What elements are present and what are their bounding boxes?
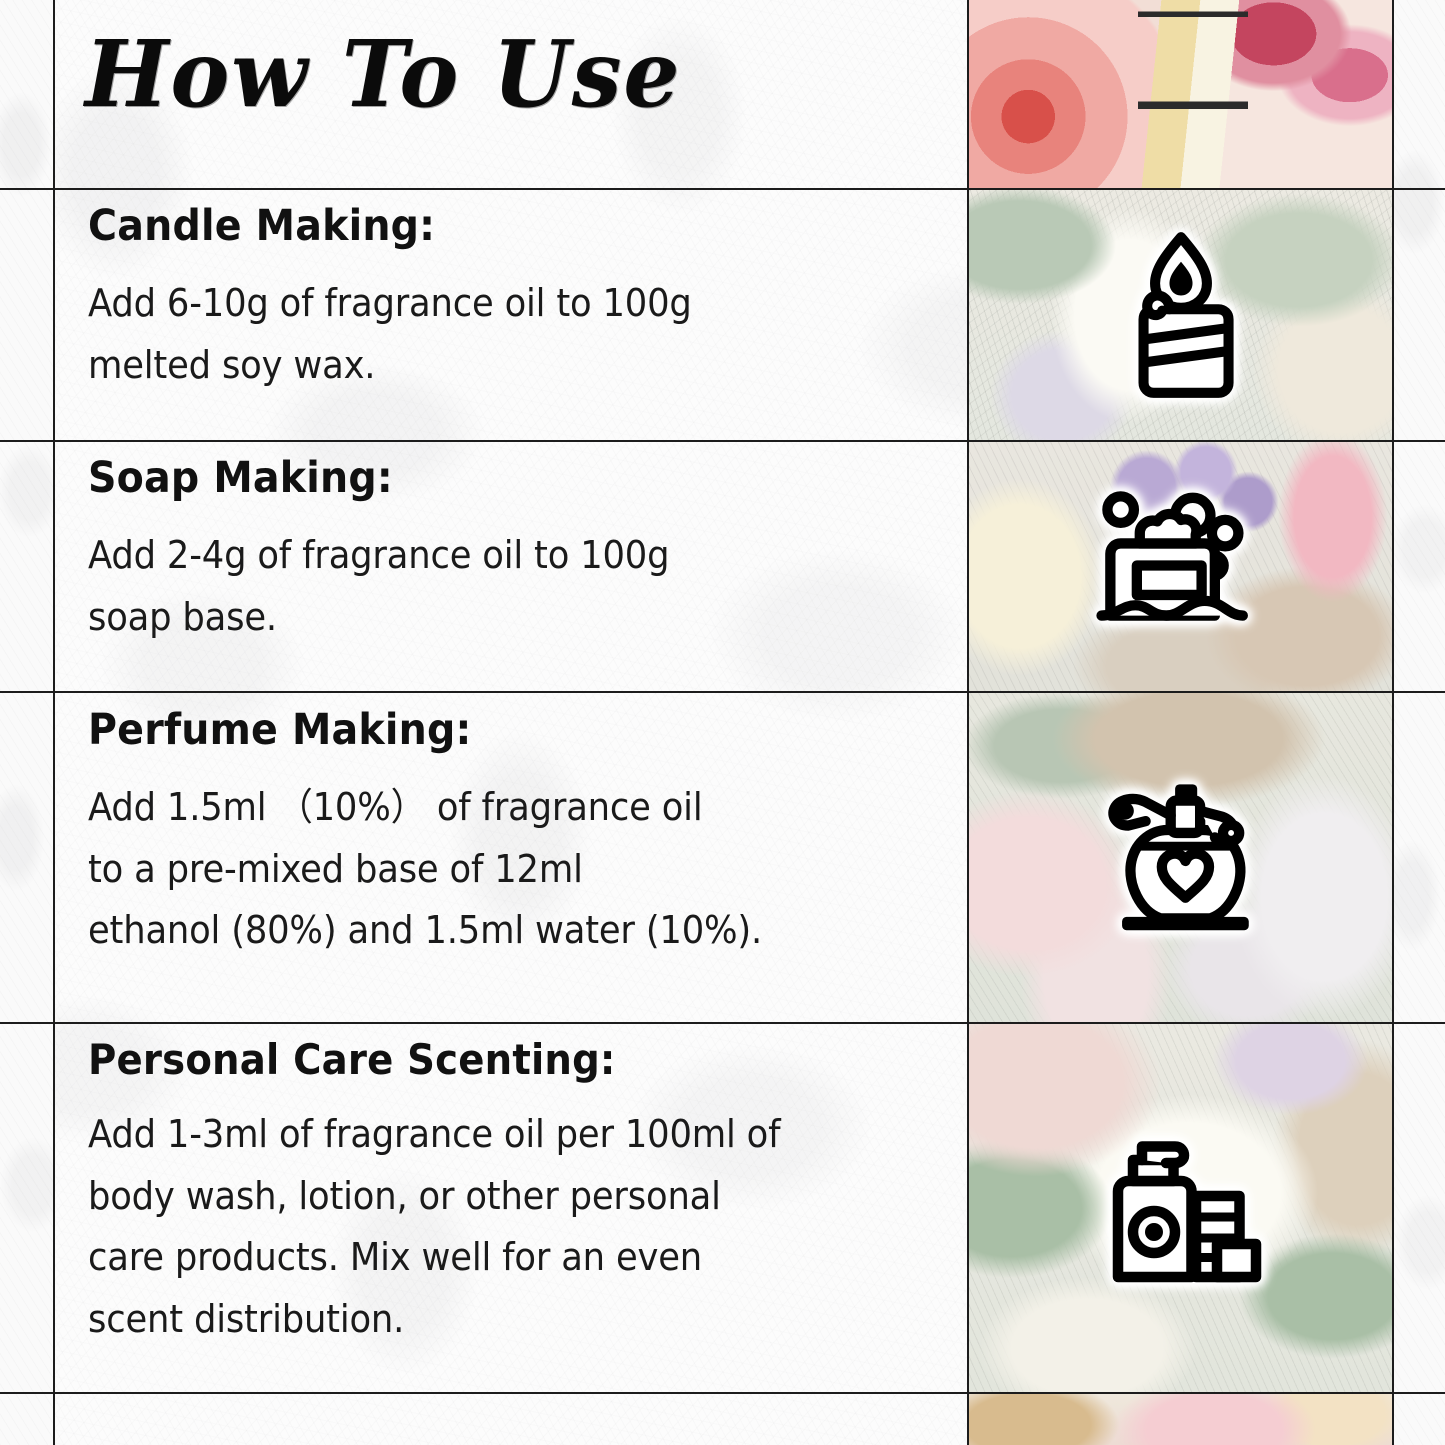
- personal-care-products-icon: [1097, 1124, 1265, 1292]
- candle-icon: [1106, 230, 1256, 400]
- frame-line-right: [1392, 0, 1394, 1445]
- page-title: How To Use: [85, 28, 682, 120]
- section-heading-personal: Personal Care Scenting:: [88, 1038, 897, 1082]
- soap-bar-bubbles-icon: [1095, 489, 1267, 645]
- bottom-photo-tile: [969, 1394, 1392, 1445]
- divider-soap-perfume: [0, 691, 1445, 693]
- section-heading-perfume: Perfume Making:: [88, 708, 897, 753]
- section-body-candle: Add 6-10g of fragrance oil to 100g melte…: [88, 273, 905, 396]
- section-heading-candle: Candle Making:: [88, 204, 897, 249]
- section-body-soap: Add 2-4g of fragrance oil to 100g soap b…: [88, 525, 905, 648]
- roses-artwork: [969, 0, 1392, 188]
- soap-photo-tile: [969, 442, 1392, 691]
- section-personal-care-scenting: Personal Care Scenting: Add 1-3ml of fra…: [55, 1038, 967, 1350]
- section-soap-making: Soap Making: Add 2-4g of fragrance oil t…: [55, 456, 967, 648]
- section-candle-making: Candle Making: Add 6-10g of fragrance oi…: [55, 204, 967, 396]
- frame-line-middle: [967, 0, 969, 1445]
- header-band: How To Use: [55, 0, 967, 188]
- perfume-atomizer-icon: [1101, 775, 1261, 940]
- section-body-perfume: Add 1.5ml （10%） of fragrance oil to a pr…: [88, 777, 905, 962]
- section-perfume-making: Perfume Making: Add 1.5ml （10%） of fragr…: [55, 708, 967, 962]
- divider-personal-bottom: [0, 1392, 1445, 1394]
- divider-under-title: [0, 188, 1445, 190]
- section-heading-soap: Soap Making:: [88, 456, 897, 501]
- candle-photo-tile: [969, 190, 1392, 440]
- section-body-personal: Add 1-3ml of fragrance oil per 100ml of …: [88, 1104, 905, 1350]
- bottom-floral-artwork: [969, 1394, 1392, 1445]
- personal-care-photo-tile: [969, 1024, 1392, 1392]
- divider-candle-soap: [0, 440, 1445, 442]
- divider-perfume-personal: [0, 1022, 1445, 1024]
- how-to-use-infographic: How To Use Candle Making: Add 6-10g of f…: [0, 0, 1445, 1445]
- perfume-photo-tile: [969, 693, 1392, 1022]
- header-photo-roses: [969, 0, 1392, 188]
- right-margin-strip: [1394, 0, 1445, 1445]
- left-margin-strip: [0, 0, 53, 1445]
